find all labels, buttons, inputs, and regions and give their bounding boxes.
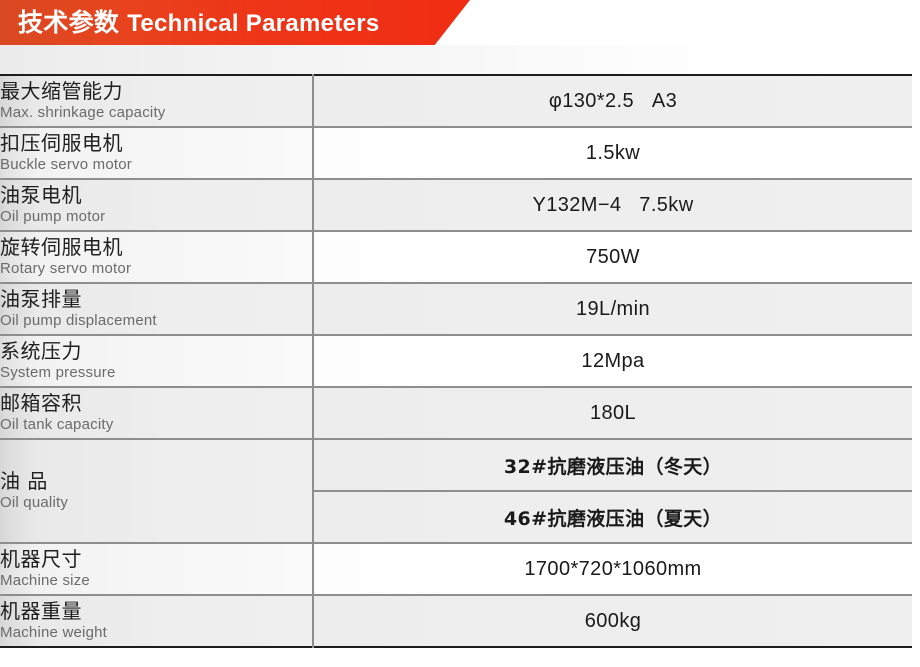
value-text: 600kg bbox=[585, 610, 642, 632]
parameter-value-cell-secondary: 46#抗磨液压油（夏天） bbox=[313, 491, 912, 543]
table-row: 邮箱容积 Oil tank capacity 180L bbox=[0, 387, 912, 439]
parameter-value-cell: 1700*720*1060mm bbox=[313, 543, 912, 595]
table-row: 油泵电机 Oil pump motor Y132M−4 7.5kw bbox=[0, 179, 912, 231]
parameter-label-cell: 油泵电机 Oil pump motor bbox=[0, 179, 313, 231]
label-cn: 机器尺寸 bbox=[0, 548, 312, 570]
table-row: 扣压伺服电机 Buckle servo motor 1.5kw bbox=[0, 127, 912, 179]
parameter-value-cell: 1.5kw bbox=[313, 127, 912, 179]
label-en: Machine weight bbox=[0, 624, 312, 642]
label-en: Max. shrinkage capacity bbox=[0, 104, 312, 122]
label-en: Machine size bbox=[0, 572, 312, 590]
parameter-label-cell: 机器重量 Machine weight bbox=[0, 595, 313, 647]
label-en: Oil pump motor bbox=[0, 208, 312, 226]
value-text: 46#抗磨液压油（夏天） bbox=[504, 508, 722, 530]
label-en: System pressure bbox=[0, 364, 312, 382]
parameter-value-cell: Y132M−4 7.5kw bbox=[313, 179, 912, 231]
table-row: 油泵排量 Oil pump displacement 19L/min bbox=[0, 283, 912, 335]
header-banner: 技术参数Technical Parameters bbox=[0, 0, 470, 45]
parameter-label-cell: 油泵排量 Oil pump displacement bbox=[0, 283, 313, 335]
value-text: 32#抗磨液压油（冬天） bbox=[504, 456, 722, 478]
label-cn: 最大缩管能力 bbox=[0, 80, 312, 102]
parameter-label-cell: 油 品 Oil quality bbox=[0, 439, 313, 543]
label-en: Oil tank capacity bbox=[0, 416, 312, 434]
table-body: 最大缩管能力 Max. shrinkage capacity φ130*2.5 … bbox=[0, 75, 912, 647]
parameter-label-cell: 旋转伺服电机 Rotary servo motor bbox=[0, 231, 313, 283]
table-row: 旋转伺服电机 Rotary servo motor 750W bbox=[0, 231, 912, 283]
label-en: Buckle servo motor bbox=[0, 156, 312, 174]
value-text: 19L/min bbox=[576, 298, 650, 320]
value-text: 750W bbox=[586, 246, 640, 268]
table-row: 系统压力 System pressure 12Mpa bbox=[0, 335, 912, 387]
parameter-value-cell: 600kg bbox=[313, 595, 912, 647]
value-text: φ130*2.5 A3 bbox=[549, 90, 677, 112]
parameter-label-cell: 系统压力 System pressure bbox=[0, 335, 313, 387]
label-cn: 油泵电机 bbox=[0, 184, 312, 206]
parameter-value-cell: 32#抗磨液压油（冬天） bbox=[313, 439, 912, 491]
parameter-value-cell: 180L bbox=[313, 387, 912, 439]
parameter-label-cell: 机器尺寸 Machine size bbox=[0, 543, 313, 595]
label-en: Oil pump displacement bbox=[0, 312, 312, 330]
technical-parameters-table: 最大缩管能力 Max. shrinkage capacity φ130*2.5 … bbox=[0, 74, 912, 648]
value-text: 12Mpa bbox=[581, 350, 644, 372]
parameter-value-cell: 19L/min bbox=[313, 283, 912, 335]
label-cn: 扣压伺服电机 bbox=[0, 132, 312, 154]
banner-title: 技术参数Technical Parameters bbox=[18, 0, 380, 45]
label-cn: 油泵排量 bbox=[0, 288, 312, 310]
label-cn: 机器重量 bbox=[0, 600, 312, 622]
banner-title-cn: 技术参数 bbox=[18, 8, 119, 37]
label-cn: 邮箱容积 bbox=[0, 392, 312, 414]
parameter-value-cell: φ130*2.5 A3 bbox=[313, 75, 912, 127]
label-cn: 旋转伺服电机 bbox=[0, 236, 312, 258]
banner-title-en: Technical Parameters bbox=[127, 10, 379, 37]
value-text: 1700*720*1060mm bbox=[524, 558, 701, 580]
parameter-value-cell: 12Mpa bbox=[313, 335, 912, 387]
table-row: 机器重量 Machine weight 600kg bbox=[0, 595, 912, 647]
label-en: Oil quality bbox=[0, 494, 312, 512]
banner-underlay-band bbox=[0, 45, 920, 74]
parameter-label-cell: 邮箱容积 Oil tank capacity bbox=[0, 387, 313, 439]
value-text: Y132M−4 7.5kw bbox=[532, 194, 693, 216]
table-row: 油 品 Oil quality 32#抗磨液压油（冬天） bbox=[0, 439, 912, 491]
parameter-value-cell: 750W bbox=[313, 231, 912, 283]
label-cn: 系统压力 bbox=[0, 340, 312, 362]
table-row: 最大缩管能力 Max. shrinkage capacity φ130*2.5 … bbox=[0, 75, 912, 127]
table-row: 机器尺寸 Machine size 1700*720*1060mm bbox=[0, 543, 912, 595]
parameter-label-cell: 扣压伺服电机 Buckle servo motor bbox=[0, 127, 313, 179]
parameter-label-cell: 最大缩管能力 Max. shrinkage capacity bbox=[0, 75, 313, 127]
value-text: 180L bbox=[590, 402, 636, 424]
value-text: 1.5kw bbox=[586, 142, 640, 164]
label-cn: 油 品 bbox=[0, 470, 312, 492]
label-en: Rotary servo motor bbox=[0, 260, 312, 278]
